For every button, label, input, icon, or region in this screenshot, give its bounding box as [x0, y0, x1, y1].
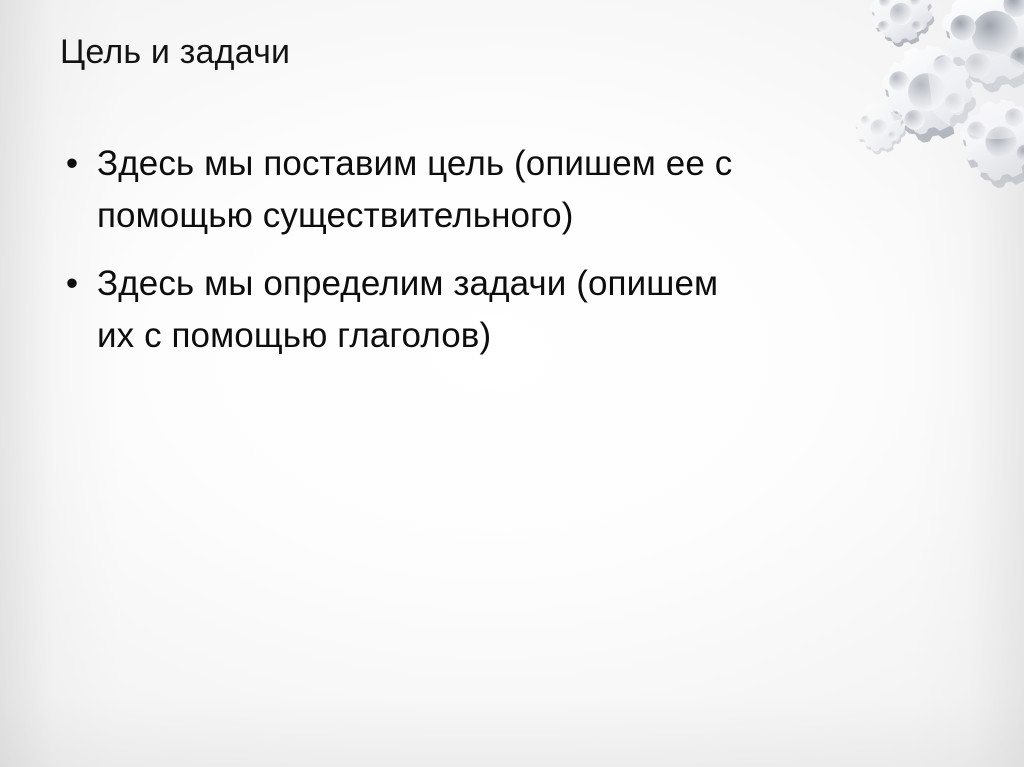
list-item-text: Здесь мы поставим цель (опишем ее с помо…: [97, 138, 752, 242]
bullet-marker-icon: •: [61, 258, 83, 310]
bullet-marker-icon: •: [61, 138, 83, 190]
gear-plate-shape: [927, 50, 1024, 140]
bottom-edge-shading: [0, 697, 1024, 767]
left-edge-shading: [0, 0, 120, 767]
list-item: • Здесь мы определим задачи (опишем их с…: [52, 258, 932, 362]
bullet-list: • Здесь мы поставим цель (опишем ее с по…: [52, 138, 932, 378]
list-item: • Здесь мы поставим цель (опишем ее с по…: [52, 138, 932, 242]
page-title: Цель и задачи: [60, 30, 820, 74]
list-item-text: Здесь мы определим задачи (опишем их с п…: [97, 258, 752, 362]
right-edge-shading: [914, 0, 1024, 767]
presentation-slide: Цель и задачи • Здесь мы поставим цель (…: [0, 0, 1024, 767]
